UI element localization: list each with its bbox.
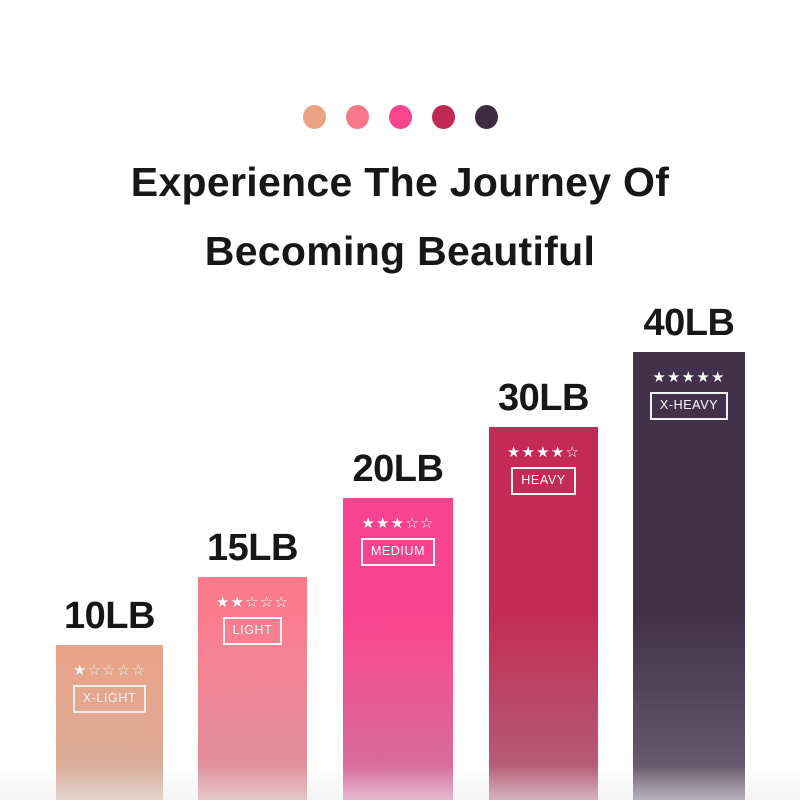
bar-15lb-level-chip: LIGHT [223,617,283,645]
bar-30lb-column[interactable]: ★★★★☆HEAVY [489,427,598,800]
bar-10lb-weight-label: 10LB [64,597,155,635]
bar-40lb-level-chip: X-HEAVY [650,392,728,420]
bar-40lb-bottom-shade [633,610,745,800]
bar-30lb[interactable]: 30LB★★★★☆HEAVY [489,365,598,800]
bar-20lb-level-chip: MEDIUM [361,538,435,566]
bar-20lb[interactable]: 20LB★★★☆☆MEDIUM [343,436,453,800]
bar-30lb-star-rating: ★★★★☆ [507,445,580,460]
bar-40lb-star-rating: ★★★★★ [652,370,725,385]
bar-20lb-weight-label: 20LB [353,450,444,488]
bar-30lb-bottom-shade [489,610,598,800]
bar-15lb-star-rating: ★★☆☆☆ [216,595,289,610]
bar-20lb-bottom-shade [343,610,453,800]
bar-10lb-level-chip: X-LIGHT [73,685,147,713]
bar-15lb-column[interactable]: ★★☆☆☆LIGHT [198,577,307,800]
bar-40lb-column[interactable]: ★★★★★X-HEAVY [633,352,745,800]
bar-30lb-level-chip: HEAVY [511,467,575,495]
bar-10lb[interactable]: 10LB★☆☆☆☆X-LIGHT [56,583,163,800]
bar-15lb[interactable]: 15LB★★☆☆☆LIGHT [198,515,307,800]
resistance-level-bar-chart: 10LB★☆☆☆☆X-LIGHT15LB★★☆☆☆LIGHT20LB★★★☆☆M… [0,0,800,800]
bar-10lb-star-rating: ★☆☆☆☆ [73,663,146,678]
bar-15lb-weight-label: 15LB [207,529,298,567]
bar-10lb-column[interactable]: ★☆☆☆☆X-LIGHT [56,645,163,800]
bar-40lb-weight-label: 40LB [644,304,735,342]
bar-20lb-column[interactable]: ★★★☆☆MEDIUM [343,498,453,800]
bar-30lb-weight-label: 30LB [498,379,589,417]
bar-20lb-star-rating: ★★★☆☆ [361,516,434,531]
bar-40lb[interactable]: 40LB★★★★★X-HEAVY [633,290,745,800]
product-infographic: Experience The Journey Of Becoming Beaut… [0,0,800,800]
